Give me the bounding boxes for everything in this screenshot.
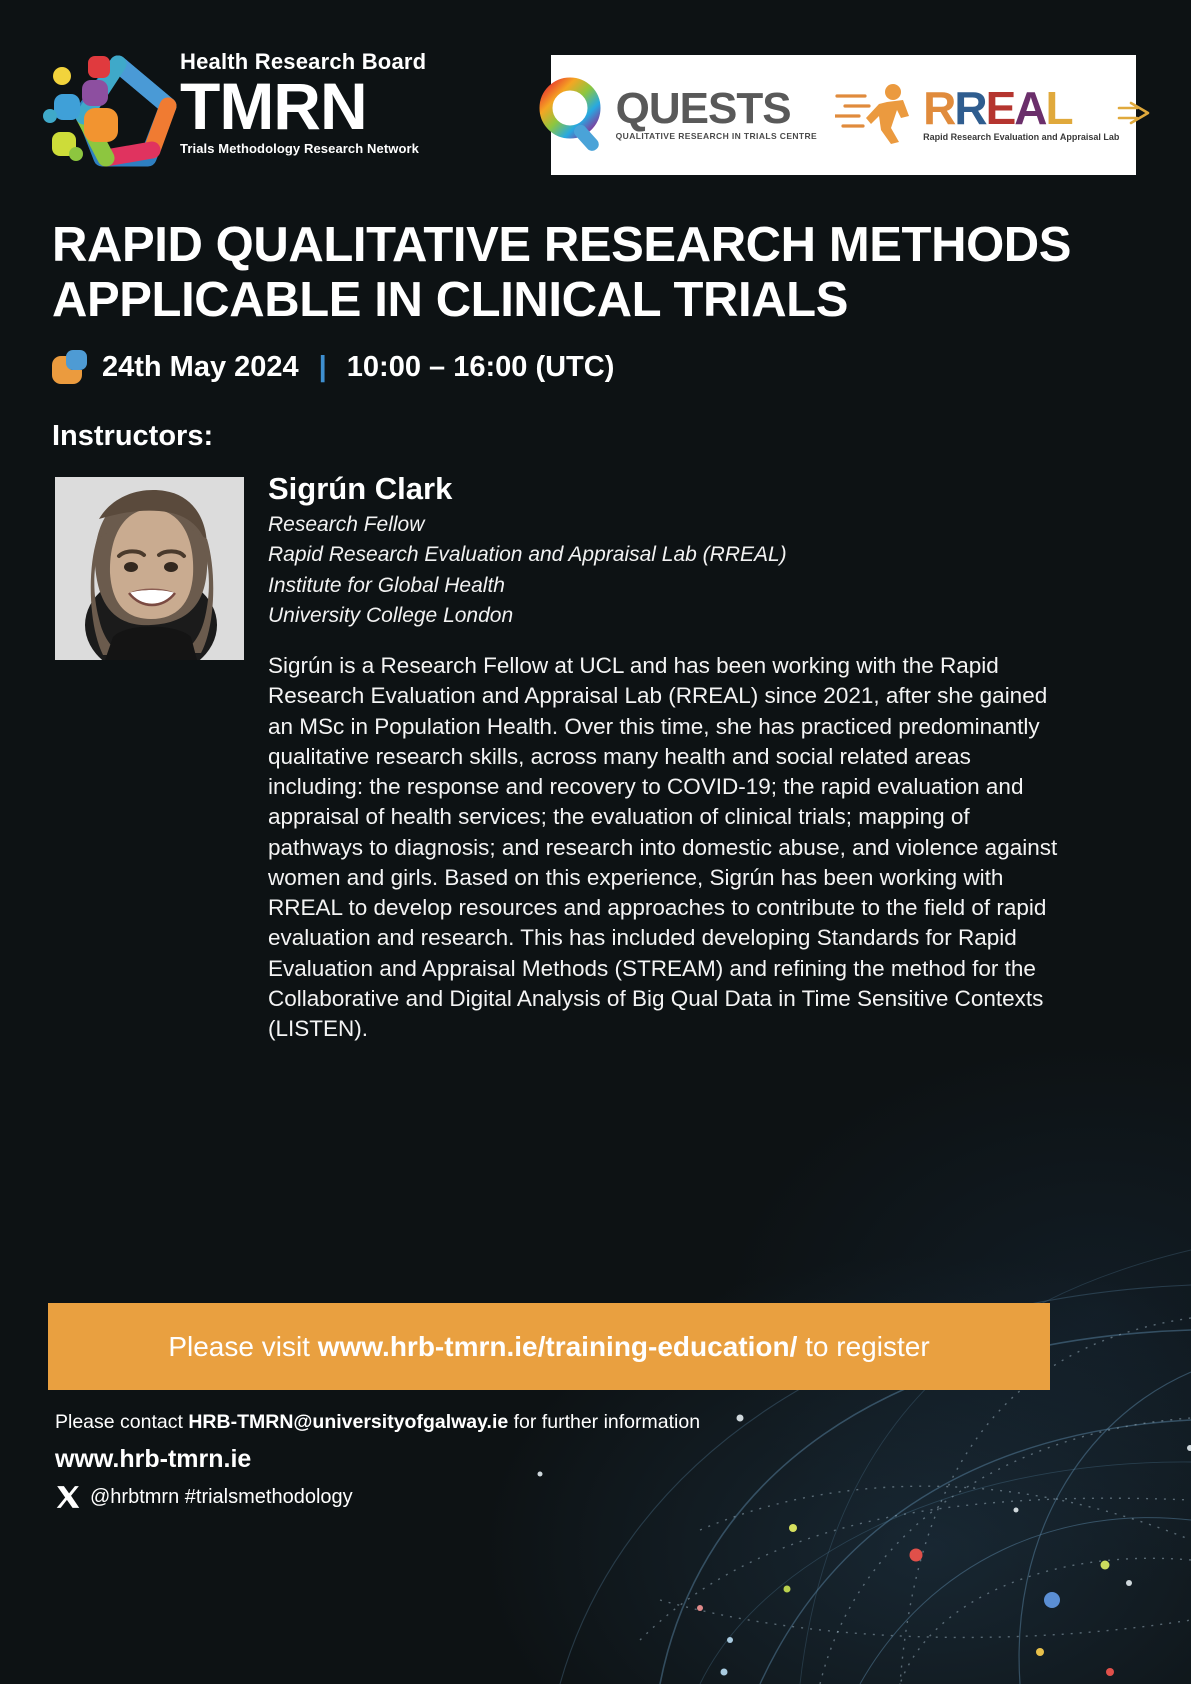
instructors-heading: Instructors: — [52, 420, 213, 453]
tmrn-tagline: Trials Methodology Research Network — [180, 141, 440, 156]
rreal-runner-icon — [835, 80, 921, 150]
contact-line: Please contact HRB-TMRN@universityofgalw… — [55, 1408, 955, 1437]
quests-wordmark: QUESTS — [616, 89, 818, 129]
tmrn-acronym: TMRN — [180, 75, 440, 138]
instructor-portrait-icon — [55, 477, 244, 660]
social-handle: @hrbtmrn #trialsmethodology — [90, 1486, 353, 1509]
event-date: 24th May 2024 — [102, 351, 299, 384]
social-line: @hrbtmrn #trialsmethodology — [55, 1484, 955, 1510]
calendar-icon — [52, 350, 88, 384]
instructor-bio: Sigrún is a Research Fellow at UCL and h… — [268, 651, 1058, 1044]
quests-logo: QUESTS QUALITATIVE RESEARCH IN TRIALS CE… — [536, 74, 818, 156]
quests-magnifier-icon — [536, 74, 610, 156]
avatar — [55, 477, 244, 660]
rreal-arrow-icon — [1117, 100, 1151, 130]
poster-header: Health Research Board TMRN Trials Method… — [0, 0, 1191, 190]
instructor-role-4: University College London — [268, 601, 1058, 631]
register-url[interactable]: www.hrb-tmrn.ie/training-education/ — [318, 1331, 798, 1362]
tmrn-logo-mark-icon — [40, 54, 190, 174]
instructor-role-3: Institute for Global Health — [268, 571, 1058, 601]
poster-footer: Please contact HRB-TMRN@universityofgalw… — [55, 1408, 955, 1510]
instructor-role-1: Research Fellow — [268, 510, 1058, 540]
page-title: RAPID QUALITATIVE RESEARCH METHODS APPLI… — [52, 218, 1112, 328]
contact-prefix: Please contact — [55, 1411, 188, 1433]
register-banner[interactable]: Please visit www.hrb-tmrn.ie/training-ed… — [48, 1303, 1050, 1390]
instructor-name: Sigrún Clark — [268, 472, 1058, 506]
rreal-tagline: Rapid Research Evaluation and Appraisal … — [923, 132, 1119, 142]
contact-suffix: for further information — [508, 1411, 700, 1433]
instructor-role-2: Rapid Research Evaluation and Appraisal … — [268, 540, 1058, 570]
instructor-details: Sigrún Clark Research Fellow Rapid Resea… — [268, 472, 1058, 1044]
rreal-wordmark: RREAL — [923, 88, 1119, 129]
partner-logos-panel: QUESTS QUALITATIVE RESEARCH IN TRIALS CE… — [551, 55, 1136, 175]
register-banner-text: Please visit www.hrb-tmrn.ie/training-ed… — [168, 1331, 929, 1363]
contact-email[interactable]: HRB-TMRN@universityofgalway.ie — [188, 1411, 508, 1433]
register-suffix: to register — [797, 1331, 929, 1362]
event-time: 10:00 – 16:00 (UTC) — [347, 351, 615, 384]
x-twitter-icon[interactable] — [55, 1484, 81, 1510]
rreal-logo: RREAL Rapid Research Evaluation and Appr… — [835, 80, 1151, 150]
register-prefix: Please visit — [168, 1331, 317, 1362]
event-datetime: 24th May 2024 | 10:00 – 16:00 (UTC) — [52, 350, 614, 384]
website-link[interactable]: www.hrb-tmrn.ie — [55, 1444, 955, 1474]
tmrn-logo: Health Research Board TMRN Trials Method… — [40, 46, 440, 174]
datetime-separator: | — [313, 351, 333, 384]
poster-page: Health Research Board TMRN Trials Method… — [0, 0, 1191, 1684]
